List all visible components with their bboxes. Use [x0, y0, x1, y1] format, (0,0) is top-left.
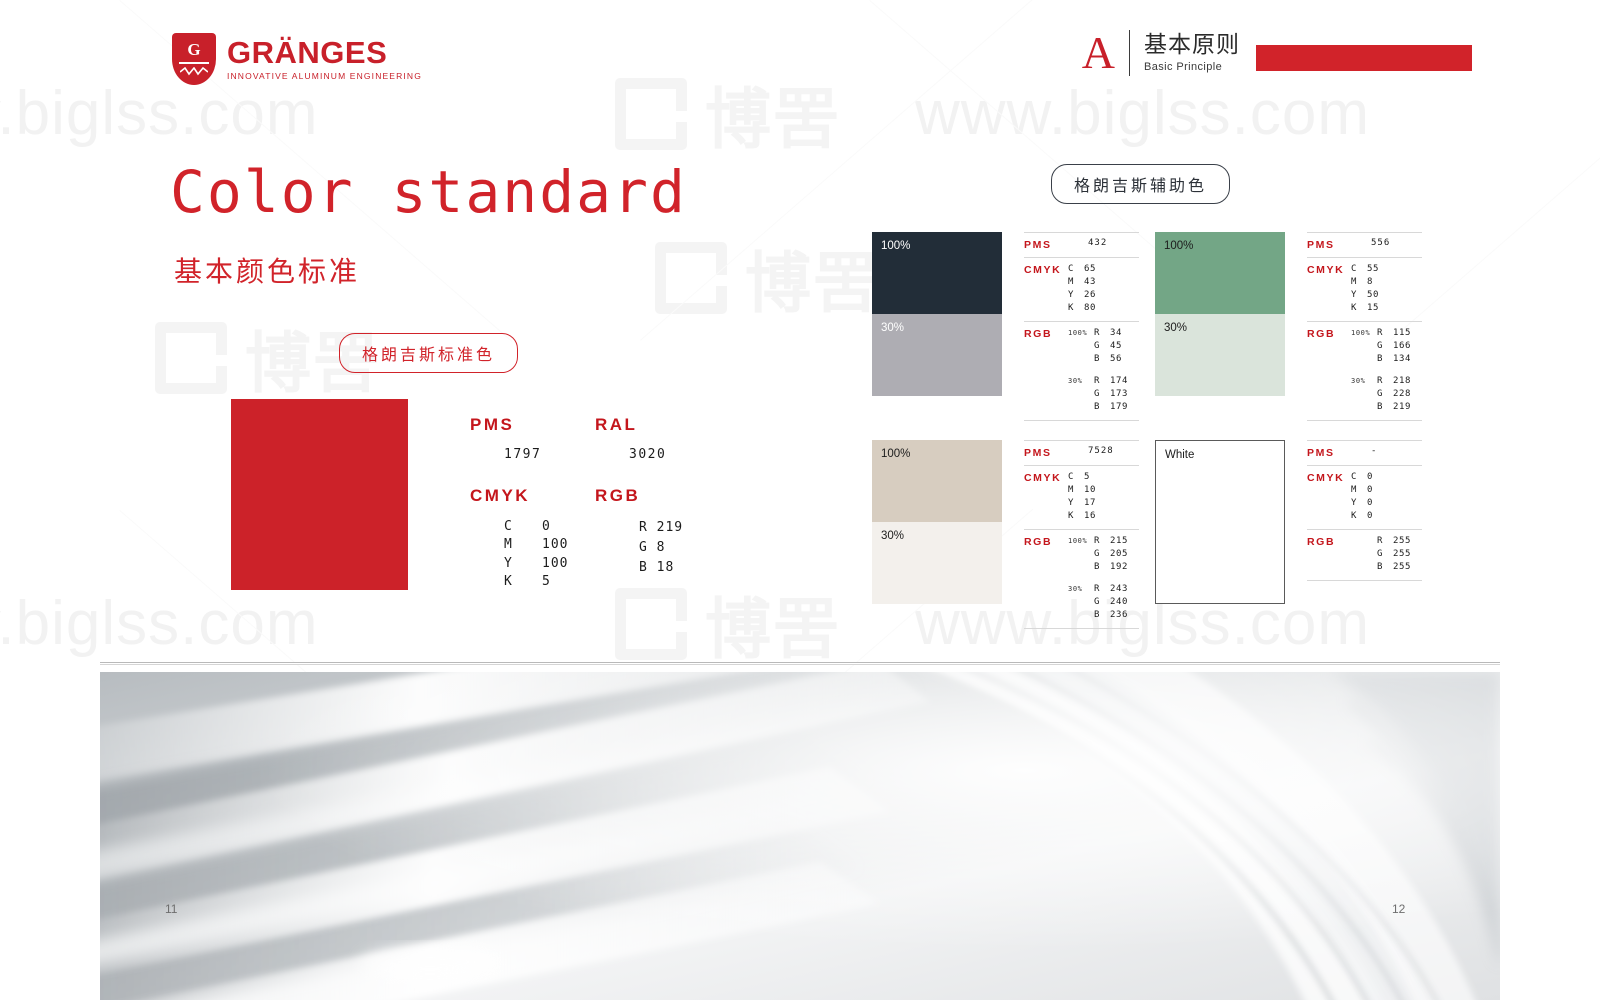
cmyk-value-k: 16: [1084, 510, 1096, 523]
swatch-green: 100%30%: [1155, 232, 1285, 396]
rgb-key-r: R: [1377, 327, 1393, 340]
rgb-row: R218: [1377, 375, 1411, 388]
pms-label: PMS: [1307, 238, 1351, 251]
rgb-value-g: 166: [1393, 340, 1411, 353]
rgb-channels-100: R115G166B134: [1377, 327, 1411, 366]
cmyk-key-m: M: [1068, 484, 1084, 497]
page-number-right: 12: [1392, 902, 1405, 916]
rgb-value-b: 192: [1110, 561, 1128, 574]
rgb-group-100: R255G255B255: [1351, 535, 1411, 574]
rgb-group-30: 30%R218G228B219: [1351, 375, 1411, 414]
rgb-value-b: 219: [1393, 401, 1411, 414]
spec-table-white: PMS-CMYKC0M0Y0K0RGBR255G255B255: [1307, 440, 1422, 648]
cmyk-key-c: C: [504, 518, 542, 536]
rgb-value-b: 56: [1110, 353, 1122, 366]
cmyk-key-m: M: [1068, 276, 1084, 289]
cmyk-key-k: K: [1351, 302, 1367, 315]
rgb-value-g: 205: [1110, 548, 1128, 561]
cmyk-row: K16: [1068, 510, 1096, 523]
rgb-value-r: R 219: [639, 518, 720, 538]
rgb-channels-30: R218G228B219: [1377, 375, 1411, 414]
swatch-tint-100: White: [1156, 441, 1284, 522]
cmyk-label: CMYK: [1307, 471, 1351, 523]
swatch-tint-30: 30%: [872, 522, 1002, 604]
cmyk-label: CMYK: [1024, 471, 1068, 523]
rgb-value-r: 243: [1110, 583, 1128, 596]
cmyk-section: CMYKC0M0Y0K0: [1307, 466, 1422, 529]
watermark-url: v.biglss.com: [0, 588, 319, 659]
primary-color-swatch: [231, 399, 408, 590]
rgb-percent-100: [1351, 535, 1377, 574]
shield-bar: [179, 62, 209, 64]
watermark-logo-text: 博罟: [745, 230, 881, 326]
swatch-tint-30: 30%: [872, 314, 1002, 396]
pms-label: PMS: [470, 415, 595, 435]
rgb-value-b: B 18: [639, 558, 720, 578]
watermark-url: www.biglss.com: [915, 78, 1370, 149]
rgb-value-r: 34: [1110, 327, 1122, 340]
rgb-key-g: G: [1094, 340, 1110, 353]
swatch-beige: 100%30%: [872, 440, 1002, 604]
rgb-row: G173: [1094, 388, 1128, 401]
cmyk-value-m: 8: [1367, 276, 1373, 289]
shield-wave-icon: [180, 67, 208, 76]
rgb-key-r: R: [1094, 583, 1110, 596]
rgb-key-g: G: [1094, 548, 1110, 561]
swatch-tint-label: 100%: [1164, 240, 1193, 252]
rgb-row: G166: [1377, 340, 1411, 353]
rgb-key-g: G: [1094, 388, 1110, 401]
rgb-group-100: 100%R215G205B192: [1068, 535, 1128, 574]
shield-letter: G: [172, 40, 216, 60]
cmyk-key-k: K: [1351, 510, 1367, 523]
rgb-key-r: R: [1094, 327, 1110, 340]
palette-cell-green: 100%30%PMS556CMYKC55M8Y50K15RGB100%R115G…: [1155, 232, 1438, 440]
rgb-key-r: R: [1094, 535, 1110, 548]
photo-graphic: [100, 672, 1500, 1000]
cmyk-value-y: 17: [1084, 497, 1096, 510]
cmyk-value-m: 0: [1367, 484, 1373, 497]
photo-divider: [100, 662, 1500, 665]
rgb-percent-100: 100%: [1068, 327, 1094, 366]
cmyk-row: K80: [1068, 302, 1096, 315]
rgb-channels-30: R243G240B236: [1094, 583, 1128, 622]
rgb-values: R255G255B255: [1351, 535, 1411, 574]
swatch-tint-label: 30%: [881, 322, 904, 334]
pms-section: PMS7528: [1024, 441, 1139, 465]
rgb-percent-100: 100%: [1351, 327, 1377, 366]
spec-table-green: PMS556CMYKC55M8Y50K15RGB100%R115G166B134…: [1307, 232, 1422, 440]
rgb-key-r: R: [1094, 375, 1110, 388]
rgb-value-g: 45: [1110, 340, 1122, 353]
rgb-label: RGB: [1024, 327, 1068, 414]
rgb-spacer: [1068, 574, 1128, 583]
cmyk-key-y: Y: [1351, 497, 1367, 510]
swatch-tint-label: 30%: [1164, 322, 1187, 334]
cmyk-value-k: 15: [1367, 302, 1379, 315]
rgb-group-30: 30%R243G240B236: [1068, 583, 1128, 622]
rgb-section: RGBR255G255B255: [1307, 530, 1422, 580]
swatch-tint-label: 100%: [881, 448, 910, 460]
cmyk-values: C65M43Y26K80: [1068, 263, 1096, 315]
cmyk-key-m: M: [1351, 484, 1367, 497]
rgb-value-g: 173: [1110, 388, 1128, 401]
divider: [1307, 580, 1422, 581]
cmyk-key-k: K: [504, 573, 542, 591]
ral-value: 3020: [629, 447, 720, 462]
rgb-percent-100: 100%: [1068, 535, 1094, 574]
pms-value: 556: [1351, 238, 1390, 251]
rgb-percent-30: 30%: [1068, 375, 1094, 414]
palette-cell-white: WhitePMS-CMYKC0M0Y0K0RGBR255G255B255: [1155, 440, 1438, 648]
rgb-value-b: 255: [1393, 561, 1411, 574]
page-title: Color standard: [170, 158, 687, 226]
rgb-label: RGB: [1024, 535, 1068, 622]
cmyk-section: CMYKC55M8Y50K15: [1307, 258, 1422, 321]
primary-ral-block: RAL 3020: [595, 415, 720, 462]
pms-section: PMS556: [1307, 233, 1422, 257]
secondary-color-palette: 100%30%PMS432CMYKC65M43Y26K80RGB100%R34G…: [872, 232, 1438, 648]
rgb-row: G205: [1094, 548, 1128, 561]
rgb-label: RGB: [595, 486, 720, 506]
rgb-channels-100: R34G45B56: [1094, 327, 1122, 366]
cmyk-value-c: 0: [542, 518, 551, 536]
cmyk-key-m: M: [1351, 276, 1367, 289]
watermark-glyph-icon: [655, 242, 727, 314]
palette-cell-beige: 100%30%PMS7528CMYKC5M10Y17K16RGB100%R215…: [872, 440, 1155, 648]
primary-cmyk-block: CMYK C0 M100 Y100 K5: [470, 486, 595, 592]
rgb-label: RGB: [1307, 327, 1351, 414]
swatch-tint-100: 100%: [872, 232, 1002, 314]
cmyk-row: C0: [1351, 471, 1373, 484]
cmyk-value-y: 50: [1367, 289, 1379, 302]
cmyk-key-y: Y: [1068, 289, 1084, 302]
rgb-spacer: [1351, 366, 1411, 375]
pms-label: PMS: [1024, 238, 1068, 251]
rgb-percent-30: 30%: [1351, 375, 1377, 414]
rgb-key-g: G: [1377, 340, 1393, 353]
watermark-logo-text: 博罟: [705, 576, 841, 672]
rgb-key-r: R: [1377, 535, 1393, 548]
section-title-en: Basic Principle: [1144, 61, 1240, 74]
rgb-spacer: [1068, 366, 1128, 375]
swatch-tint-label: 100%: [881, 240, 910, 252]
rgb-row: R34: [1094, 327, 1122, 340]
spec-table-dark-navy: PMS432CMYKC65M43Y26K80RGB100%R34G45B5630…: [1024, 232, 1139, 440]
cmyk-label: CMYK: [1024, 263, 1068, 315]
swatch-tint-30: 30%: [1155, 314, 1285, 396]
rgb-row: G45: [1094, 340, 1122, 353]
rgb-key-r: R: [1377, 375, 1393, 388]
section-badge: A 基本原则 Basic Principle: [1082, 30, 1240, 76]
watermark-glyph-icon: [155, 322, 227, 394]
cmyk-row: K0: [1351, 510, 1373, 523]
rgb-row: B134: [1377, 353, 1411, 366]
swatch-dark-navy: 100%30%: [872, 232, 1002, 396]
pms-value: 1797: [504, 447, 595, 462]
cmyk-row: C55: [1351, 263, 1379, 276]
rgb-row: B179: [1094, 401, 1128, 414]
rgb-row: R255: [1377, 535, 1411, 548]
rgb-channels-30: R174G173B179: [1094, 375, 1128, 414]
cmyk-key-c: C: [1351, 471, 1367, 484]
cmyk-label: CMYK: [470, 486, 595, 506]
swatch-white: White: [1155, 440, 1285, 604]
rgb-value-r: 218: [1393, 375, 1411, 388]
rgb-values: 100%R215G205B19230%R243G240B236: [1068, 535, 1128, 622]
cmyk-row: M0: [1351, 484, 1373, 497]
primary-rgb-block: RGB R 219 G 8 B 18: [595, 486, 720, 592]
rgb-channels-100: R255G255B255: [1377, 535, 1411, 574]
granges-shield-icon: G: [172, 33, 216, 85]
rgb-group-100: 100%R34G45B56: [1068, 327, 1128, 366]
rgb-value-r: 255: [1393, 535, 1411, 548]
header-accent-bar: [1256, 45, 1472, 71]
rgb-values: 100%R34G45B5630%R174G173B179: [1068, 327, 1128, 414]
cmyk-row: Y26: [1068, 289, 1096, 302]
rgb-value-r: 115: [1393, 327, 1411, 340]
rgb-key-b: B: [1094, 609, 1110, 622]
palette-cell-dark-navy: 100%30%PMS432CMYKC65M43Y26K80RGB100%R34G…: [872, 232, 1155, 440]
rgb-value-g: 228: [1393, 388, 1411, 401]
cmyk-row: C5: [1068, 471, 1096, 484]
cmyk-row: Y17: [1068, 497, 1096, 510]
cmyk-row: Y50: [1351, 289, 1379, 302]
divider: [1307, 420, 1422, 421]
cmyk-row: M10: [1068, 484, 1096, 497]
page-subtitle: 基本颜色标准: [174, 250, 360, 290]
badge-divider: [1129, 30, 1130, 76]
rgb-key-g: G: [1377, 548, 1393, 561]
rgb-row: B236: [1094, 609, 1128, 622]
primary-color-pill-label: 格朗吉斯标准色: [339, 333, 518, 373]
rgb-group-100: 100%R115G166B134: [1351, 327, 1411, 366]
pms-value: 7528: [1068, 446, 1114, 459]
watermark-logo-text: 博罟: [705, 66, 841, 162]
rgb-row: R243: [1094, 583, 1128, 596]
pms-label: PMS: [1024, 446, 1068, 459]
pms-label: PMS: [1307, 446, 1351, 459]
section-letter: A: [1082, 30, 1115, 76]
cmyk-value-c: 55: [1367, 263, 1379, 276]
cmyk-value-y: 0: [1367, 497, 1373, 510]
primary-pms-block: PMS 1797: [470, 415, 595, 462]
spec-table-beige: PMS7528CMYKC5M10Y17K16RGB100%R215G205B19…: [1024, 440, 1139, 648]
swatch-tint-label: White: [1165, 449, 1194, 461]
pms-value: -: [1351, 446, 1377, 459]
watermark-url: v.biglss.com: [0, 78, 319, 149]
rgb-key-g: G: [1094, 596, 1110, 609]
cmyk-values: C0M0Y0K0: [1351, 471, 1373, 523]
rgb-label: RGB: [1307, 535, 1351, 574]
rgb-row: G240: [1094, 596, 1128, 609]
rgb-value-g: G 8: [639, 538, 720, 558]
cmyk-value-m: 43: [1084, 276, 1096, 289]
watermark-logo: 博罟: [615, 66, 841, 162]
watermark-logo: 博罟: [655, 230, 881, 326]
logo-tagline: INNOVATIVE ALUMINUM ENGINEERING: [227, 72, 422, 81]
pms-value: 432: [1068, 238, 1107, 251]
swatch-tint-100: 100%: [1155, 232, 1285, 314]
cmyk-row: M8: [1351, 276, 1379, 289]
cmyk-value-c: 5: [1084, 471, 1090, 484]
rgb-section: RGB100%R34G45B5630%R174G173B179: [1024, 322, 1139, 420]
swatch-tint-label: 30%: [881, 530, 904, 542]
cmyk-value-c: 0: [1367, 471, 1373, 484]
brand-guideline-page: v.biglss.com www.biglss.com v.biglss.com…: [0, 0, 1600, 1000]
cmyk-key-c: C: [1068, 263, 1084, 276]
cmyk-section: CMYKC5M10Y17K16: [1024, 466, 1139, 529]
pms-section: PMS432: [1024, 233, 1139, 257]
rgb-key-b: B: [1377, 561, 1393, 574]
cmyk-key-c: C: [1068, 471, 1084, 484]
primary-color-specs: PMS 1797 RAL 3020 CMYK C0 M100 Y100 K5 R…: [470, 415, 720, 592]
rgb-key-b: B: [1377, 353, 1393, 366]
cmyk-label: CMYK: [1307, 263, 1351, 315]
cmyk-row: K15: [1351, 302, 1379, 315]
cmyk-row: Y0: [1351, 497, 1373, 510]
rgb-value-b: 179: [1110, 401, 1128, 414]
cmyk-values: C5M10Y17K16: [1068, 471, 1096, 523]
divider: [1024, 420, 1139, 421]
pms-section: PMS-: [1307, 441, 1422, 465]
rgb-key-b: B: [1094, 401, 1110, 414]
cmyk-row: M43: [1068, 276, 1096, 289]
cmyk-value-y: 26: [1084, 289, 1096, 302]
cmyk-values: C55M8Y50K15: [1351, 263, 1379, 315]
rgb-value-r: 215: [1110, 535, 1128, 548]
rgb-key-g: G: [1377, 388, 1393, 401]
rgb-percent-30: 30%: [1068, 583, 1094, 622]
cmyk-row: C65: [1068, 263, 1096, 276]
rgb-key-b: B: [1094, 561, 1110, 574]
rgb-values: 100%R115G166B13430%R218G228B219: [1351, 327, 1411, 414]
rgb-row: B56: [1094, 353, 1122, 366]
rgb-value-r: 174: [1110, 375, 1128, 388]
ral-label: RAL: [595, 415, 720, 435]
cmyk-value-k: 0: [1367, 510, 1373, 523]
rgb-section: RGB100%R215G205B19230%R243G240B236: [1024, 530, 1139, 628]
cmyk-value-k: 5: [542, 573, 551, 591]
section-title-cn: 基本原则: [1144, 32, 1240, 58]
cmyk-value-k: 80: [1084, 302, 1096, 315]
watermark-glyph-icon: [615, 78, 687, 150]
cmyk-key-k: K: [1068, 510, 1084, 523]
cmyk-key-y: Y: [1068, 497, 1084, 510]
rgb-section: RGB100%R115G166B13430%R218G228B219: [1307, 322, 1422, 420]
rgb-value-g: 255: [1393, 548, 1411, 561]
rgb-channels-100: R215G205B192: [1094, 535, 1128, 574]
cmyk-section: CMYKC65M43Y26K80: [1024, 258, 1139, 321]
cmyk-key-k: K: [1068, 302, 1084, 315]
rgb-key-b: B: [1377, 401, 1393, 414]
rgb-value-g: 240: [1110, 596, 1128, 609]
rgb-group-30: 30%R174G173B179: [1068, 375, 1128, 414]
cmyk-key-y: Y: [1351, 289, 1367, 302]
rgb-key-b: B: [1094, 353, 1110, 366]
divider: [1024, 628, 1139, 629]
watermark-glyph-icon: [615, 588, 687, 660]
rgb-row: B192: [1094, 561, 1128, 574]
logo-wordmark: GRÄNGES: [227, 37, 422, 68]
secondary-color-pill-label: 格朗吉斯辅助色: [1051, 164, 1230, 204]
swatch-tint-30: [1156, 522, 1284, 603]
rgb-value-b: 134: [1393, 353, 1411, 366]
rgb-row: B255: [1377, 561, 1411, 574]
cmyk-key-y: Y: [504, 555, 542, 573]
rgb-row: R174: [1094, 375, 1128, 388]
rgb-row: R115: [1377, 327, 1411, 340]
cmyk-key-c: C: [1351, 263, 1367, 276]
cmyk-value-c: 65: [1084, 263, 1096, 276]
rgb-row: G255: [1377, 548, 1411, 561]
rgb-row: B219: [1377, 401, 1411, 414]
rgb-value-b: 236: [1110, 609, 1128, 622]
swatch-tint-100: 100%: [872, 440, 1002, 522]
cmyk-key-m: M: [504, 536, 542, 554]
aluminum-foil-photo: [100, 672, 1500, 1000]
brand-logo: G GRÄNGES INNOVATIVE ALUMINUM ENGINEERIN…: [172, 33, 422, 85]
rgb-row: R215: [1094, 535, 1128, 548]
cmyk-value-y: 100: [542, 555, 568, 573]
rgb-row: G228: [1377, 388, 1411, 401]
page-number-left: 11: [165, 902, 177, 916]
cmyk-value-m: 10: [1084, 484, 1096, 497]
cmyk-value-m: 100: [542, 536, 568, 554]
